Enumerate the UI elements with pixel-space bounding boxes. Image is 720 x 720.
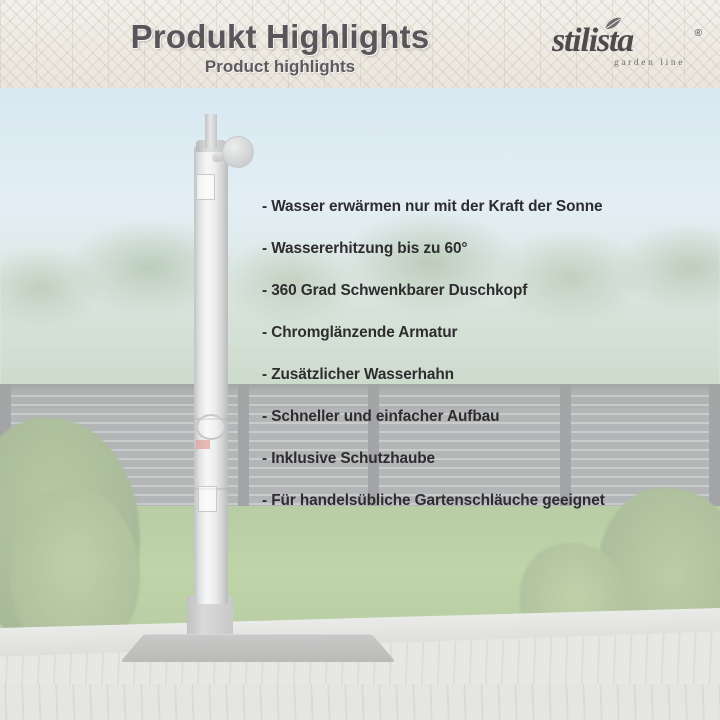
header-bar: Produkt Highlights Product highlights st… <box>0 0 720 88</box>
brand-logo: stilista ® garden line <box>552 22 702 74</box>
product-photo: - Wasser erwärmen nur mit der Kraft der … <box>0 88 720 720</box>
leaf-icon <box>604 17 622 31</box>
highlight-item: - Inklusive Schutzhaube <box>262 450 702 468</box>
logo-registered-mark: ® <box>695 28 702 39</box>
page-title-en: Product highlights <box>0 56 560 78</box>
highlight-item: - Zusätzlicher Wasserhahn <box>262 366 702 384</box>
title-block: Produkt Highlights Product highlights <box>0 18 560 78</box>
highlight-item: - Chromglänzende Armatur <box>262 324 702 342</box>
highlight-item: - 360 Grad Schwenkbarer Duschkopf <box>262 282 702 300</box>
page-title-de: Produkt Highlights <box>0 18 560 56</box>
highlight-item: - Wasser erwärmen nur mit der Kraft der … <box>262 198 702 216</box>
product-highlights-page: Produkt Highlights Product highlights st… <box>0 0 720 720</box>
highlight-item: - Für handelsübliche Gartenschläuche gee… <box>262 492 702 510</box>
highlights-list: - Wasser erwärmen nur mit der Kraft der … <box>262 198 702 510</box>
highlight-item: - Schneller und einfacher Aufbau <box>262 408 702 426</box>
highlight-item: - Wassererhitzung bis zu 60° <box>262 240 702 258</box>
logo-tagline: garden line <box>614 58 685 68</box>
